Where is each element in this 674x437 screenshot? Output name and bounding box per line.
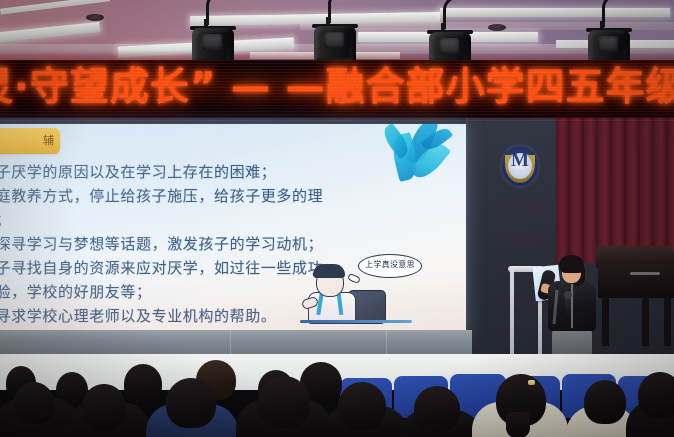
speech-bubble: 上学真没意思 — [358, 254, 422, 278]
screen-bottom-frame — [0, 330, 472, 356]
slide-line: 解； — [0, 208, 410, 232]
cartoon-arm — [301, 296, 319, 310]
projection-screen: 辅 孩子厌学的原因以及在学习上存在的困难； 家庭教养方式，停止给孩子施压，给孩子… — [0, 124, 466, 336]
slide-line: 孩子厌学的原因以及在学习上存在的困难； — [0, 160, 410, 184]
emblem-letter: M — [502, 150, 538, 172]
audience-head — [82, 384, 126, 430]
cartoon-body — [308, 292, 356, 324]
recessed-downlight — [86, 14, 104, 21]
cartoon-schoolboy: 上学真没意思 — [300, 260, 416, 324]
presenter-hair — [559, 255, 584, 273]
audience-head — [258, 376, 310, 428]
audience-head — [166, 378, 216, 428]
audience-head — [124, 364, 162, 404]
slide-body-text: 孩子厌学的原因以及在学习上存在的困难； 家庭教养方式，停止给孩子施压，给孩子更多… — [0, 160, 410, 328]
audience-ponytail — [506, 412, 530, 437]
slide-line: 孩子寻找自身的资源来应对厌学，如过往一些成功 — [0, 256, 410, 280]
audience-head — [14, 382, 54, 424]
slide-line: 子探寻学习与梦想等话题，激发孩子的学习动机； — [0, 232, 410, 256]
led-banner: 灵·守望成长” — —融合部小学四五年级心理健康讲 — [0, 60, 674, 122]
school-emblem: M — [502, 146, 538, 186]
slide-line: 体验，学校的好朋友等； — [0, 280, 410, 304]
backpack-strap — [316, 293, 323, 315]
cartoon-head — [316, 268, 344, 297]
backpack-icon — [348, 290, 386, 324]
audience-head — [584, 380, 626, 424]
recessed-downlight — [488, 24, 506, 31]
slide-line: 家庭教养方式，停止给孩子施压，给孩子更多的理 — [0, 184, 410, 208]
cartoon-ground-line — [300, 320, 412, 323]
slide-chip-label: 辅 — [43, 132, 54, 148]
led-banner-text: 灵·守望成长” — —融合部小学四五年级心理健康讲 — [0, 64, 674, 112]
backpack-strap — [337, 293, 344, 315]
audience-area — [0, 360, 674, 437]
presenter — [540, 250, 612, 362]
audience-head — [414, 386, 460, 432]
speech-bubble-text: 上学真没意思 — [359, 259, 421, 270]
ceiling-light-panel — [0, 22, 100, 44]
auditorium-scene: 灵·守望成长” — —融合部小学四五年级心理健康讲 M 辅 孩子厌学的原因以及在… — [0, 0, 674, 437]
speech-bubble-tail — [347, 273, 361, 284]
slide-title-chip: 辅 — [0, 128, 60, 154]
hair-clip — [528, 380, 535, 385]
audience-head — [338, 382, 386, 430]
microphone — [565, 296, 571, 320]
cartoon-hair — [313, 264, 345, 278]
ceiling-light-panel — [0, 0, 110, 15]
ceiling-light-panel — [440, 8, 670, 17]
stage-curtain — [556, 118, 674, 263]
jacket-zipper — [571, 284, 573, 328]
leaf-decoration — [386, 124, 466, 198]
slide-line: 时寻求学校心理老师以及专业机构的帮助。 — [0, 304, 410, 328]
audience-head — [638, 372, 674, 418]
